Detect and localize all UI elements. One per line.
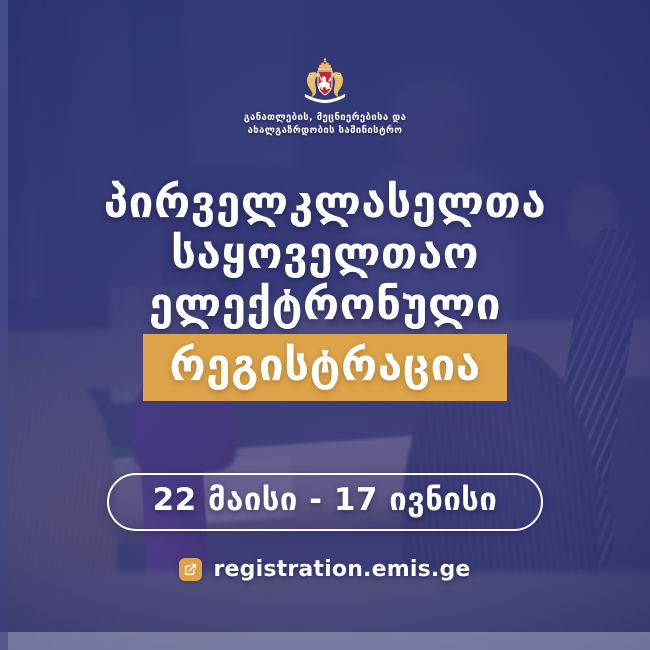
ministry-name-line1: განათლების, მეცნიერებისა და xyxy=(244,111,407,124)
registration-url-text[interactable]: registration.emis.ge xyxy=(213,557,470,582)
registration-highlight-badge: რეგისტრაცია xyxy=(143,334,506,401)
date-range-pill: 22 მაისი - 17 ივნისი xyxy=(107,473,544,531)
highlight-row: რეგისტრაცია xyxy=(143,334,506,401)
poster: განათლების, მეცნიერებისა და ახალგაზრდობი… xyxy=(0,0,650,650)
ministry-name-line2: ახალგაზრდობის სამინისტრო xyxy=(244,124,407,137)
headline-line-2: საყოველთაო xyxy=(104,228,546,279)
headline: პირველკლასელთა საყოველთაო ელექტრონული xyxy=(104,177,546,330)
registration-url-row[interactable]: registration.emis.ge xyxy=(179,557,470,582)
external-link-icon xyxy=(179,558,202,581)
ministry-name: განათლების, მეცნიერებისა და ახალგაზრდობი… xyxy=(244,111,407,137)
ministry-branding: განათლების, მეცნიერებისა და ახალგაზრდობი… xyxy=(244,58,407,137)
georgian-coat-of-arms-icon xyxy=(300,58,350,104)
headline-line-1: პირველკლასელთა xyxy=(104,177,546,228)
headline-line-3: ელექტრონული xyxy=(104,279,546,330)
poster-content: განათლების, მეცნიერებისა და ახალგაზრდობი… xyxy=(0,0,650,650)
